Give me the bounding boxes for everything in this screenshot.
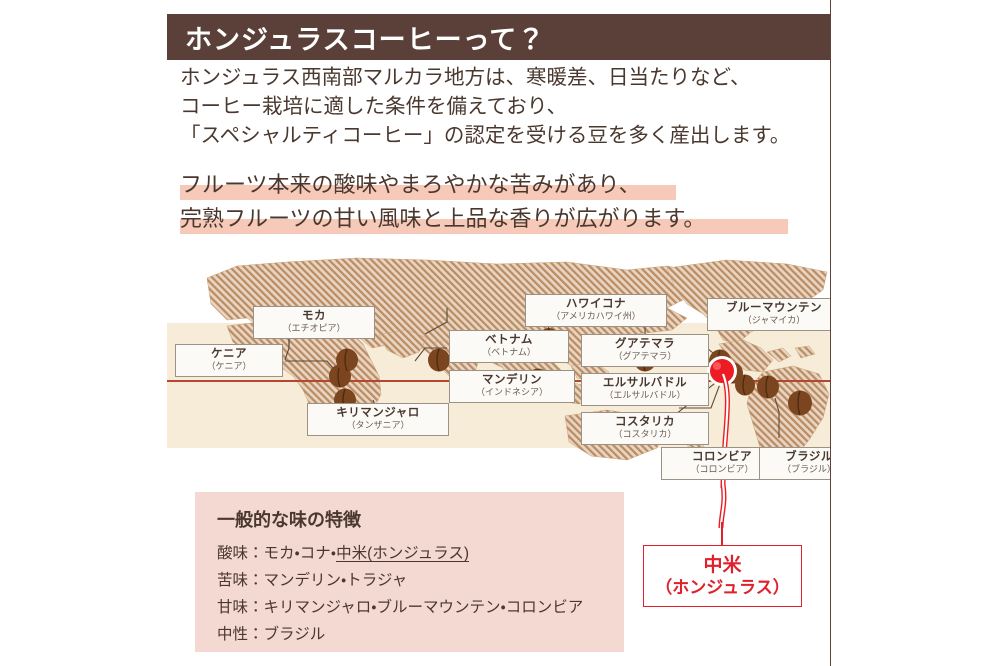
intro-line-2: コーヒー栽培に適した条件を備えており、 <box>180 93 830 122</box>
map-label-mandheling[interactable]: マンデリン （インドネシア） <box>449 370 575 403</box>
map-label-kilimanjaro-country: （タンザニア） <box>315 421 441 430</box>
intro-line-1: ホンジュラス西南部マルカラ地方は、寒暖差、日当たりなど、 <box>180 64 830 93</box>
map-label-kenya-name: ケニア <box>183 348 275 360</box>
highlight-line-1-text: フルーツ本来の酸味やまろやかな苦みがあり、 <box>180 172 641 197</box>
map-label-brazil-country: （ブラジル） <box>767 465 830 474</box>
legend-row-bitterness: 苦味：マンデリン・トラジャ <box>217 567 583 594</box>
highlighted-text: フルーツ本来の酸味やまろやかな苦みがあり、 完熟フルーツの甘い風味と上品な香りが… <box>180 168 830 236</box>
map-label-kenya-country: （ケニア） <box>183 362 275 371</box>
map-label-moka-country: （エチオピア） <box>261 324 367 333</box>
world-map: ケニア （ケニア） モカ （エチオピア） キリマンジャロ （タンザニア） ベトナ… <box>167 248 830 488</box>
page-title: ホンジュラスコーヒーって？ <box>185 18 545 57</box>
legend-row-neutral-label: 中性： <box>217 626 264 643</box>
highlight-line-1: フルーツ本来の酸味やまろやかな苦みがあり、 <box>180 168 830 202</box>
honduras-marker <box>707 356 737 386</box>
map-label-vietnam-country: （ベトナム） <box>457 348 561 357</box>
header-banner: ホンジュラスコーヒーって？ <box>167 14 830 60</box>
map-label-kenya[interactable]: ケニア （ケニア） <box>175 344 283 377</box>
honduras-callout-line1: 中米 <box>644 555 801 577</box>
infographic-page: ホンジュラスコーヒーって？ ホンジュラス西南部マルカラ地方は、寒暖差、日当たりな… <box>0 0 1000 666</box>
legend-row-bitterness-label: 苦味： <box>217 572 264 589</box>
intro-paragraph: ホンジュラス西南部マルカラ地方は、寒暖差、日当たりなど、 コーヒー栽培に適した条… <box>180 64 830 151</box>
map-label-vietnam[interactable]: ベトナム （ベトナム） <box>449 330 569 363</box>
map-label-kilimanjaro-name: キリマンジャロ <box>315 407 441 419</box>
map-label-hawaii-kona-name: ハワイコナ <box>533 298 659 310</box>
map-label-blue-mountain-country: （ジャマイカ） <box>715 316 830 325</box>
map-label-costa-rica-country: （コスタリカ） <box>589 430 701 439</box>
map-label-costa-rica-name: コスタリカ <box>589 416 701 428</box>
intro-line-3: 「スペシャルティコーヒー」の認定を受ける豆を多く産出します。 <box>180 122 830 151</box>
map-label-el-salvador-country: （エルサルバドル） <box>589 391 701 400</box>
right-column-rule <box>830 0 831 666</box>
map-label-costa-rica[interactable]: コスタリカ （コスタリカ） <box>581 412 709 445</box>
honduras-callout: 中米 （ホンジュラス） <box>643 545 802 607</box>
map-label-brazil-name: ブラジル <box>767 451 830 463</box>
legend-rows: 酸味：モカ・コナ・中米(ホンジュラス) 苦味：マンデリン・トラジャ 甘味：キリマ… <box>217 540 583 648</box>
highlight-line-2: 完熟フルーツの甘い風味と上品な香りが広がります。 <box>180 202 830 236</box>
map-label-el-salvador-name: エルサルバドル <box>589 377 701 389</box>
map-label-hawaii-kona[interactable]: ハワイコナ （アメリカハワイ州） <box>525 294 667 327</box>
map-label-moka-name: モカ <box>261 310 367 322</box>
map-label-guatemala-name: グアテマラ <box>589 338 701 350</box>
legend-row-acidity-underlined: 中米(ホンジュラス) <box>336 545 469 562</box>
legend-row-sweetness-plain: キリマンジャロ・ブルーマウンテン・コロンビア <box>264 599 584 616</box>
legend-row-neutral-plain: ブラジル <box>264 626 326 643</box>
legend-row-neutral: 中性：ブラジル <box>217 621 583 648</box>
legend-title: 一般的な味の特徴 <box>217 506 361 532</box>
map-label-brazil[interactable]: ブラジル （ブラジル） <box>759 447 830 480</box>
legend-row-acidity-plain: モカ・コナ・ <box>264 545 337 562</box>
taste-legend-panel: 一般的な味の特徴 酸味：モカ・コナ・中米(ホンジュラス) 苦味：マンデリン・トラ… <box>195 492 624 652</box>
map-label-mandheling-country: （インドネシア） <box>457 388 567 397</box>
map-label-guatemala-country: （グアテマラ） <box>589 352 701 361</box>
map-label-hawaii-kona-country: （アメリカハワイ州） <box>533 312 659 321</box>
map-label-el-salvador[interactable]: エルサルバドル （エルサルバドル） <box>581 373 709 406</box>
callout-stem <box>721 522 723 546</box>
map-label-kilimanjaro[interactable]: キリマンジャロ （タンザニア） <box>307 403 449 436</box>
map-label-vietnam-name: ベトナム <box>457 334 561 346</box>
legend-row-acidity-label: 酸味： <box>217 545 264 562</box>
map-label-blue-mountain[interactable]: ブルーマウンテン （ジャマイカ） <box>707 298 830 331</box>
legend-row-bitterness-plain: マンデリン・トラジャ <box>264 572 408 589</box>
map-label-blue-mountain-name: ブルーマウンテン <box>715 302 830 314</box>
map-label-mandheling-name: マンデリン <box>457 374 567 386</box>
highlight-line-2-text: 完熟フルーツの甘い風味と上品な香りが広がります。 <box>180 206 705 231</box>
legend-row-sweetness: 甘味：キリマンジャロ・ブルーマウンテン・コロンビア <box>217 594 583 621</box>
honduras-callout-line2: （ホンジュラス） <box>644 577 801 598</box>
legend-row-sweetness-label: 甘味： <box>217 599 264 616</box>
map-label-moka[interactable]: モカ （エチオピア） <box>253 306 375 339</box>
map-label-guatemala[interactable]: グアテマラ （グアテマラ） <box>581 334 709 367</box>
honduras-pointer-tail <box>690 484 770 554</box>
legend-row-acidity: 酸味：モカ・コナ・中米(ホンジュラス) <box>217 540 583 567</box>
